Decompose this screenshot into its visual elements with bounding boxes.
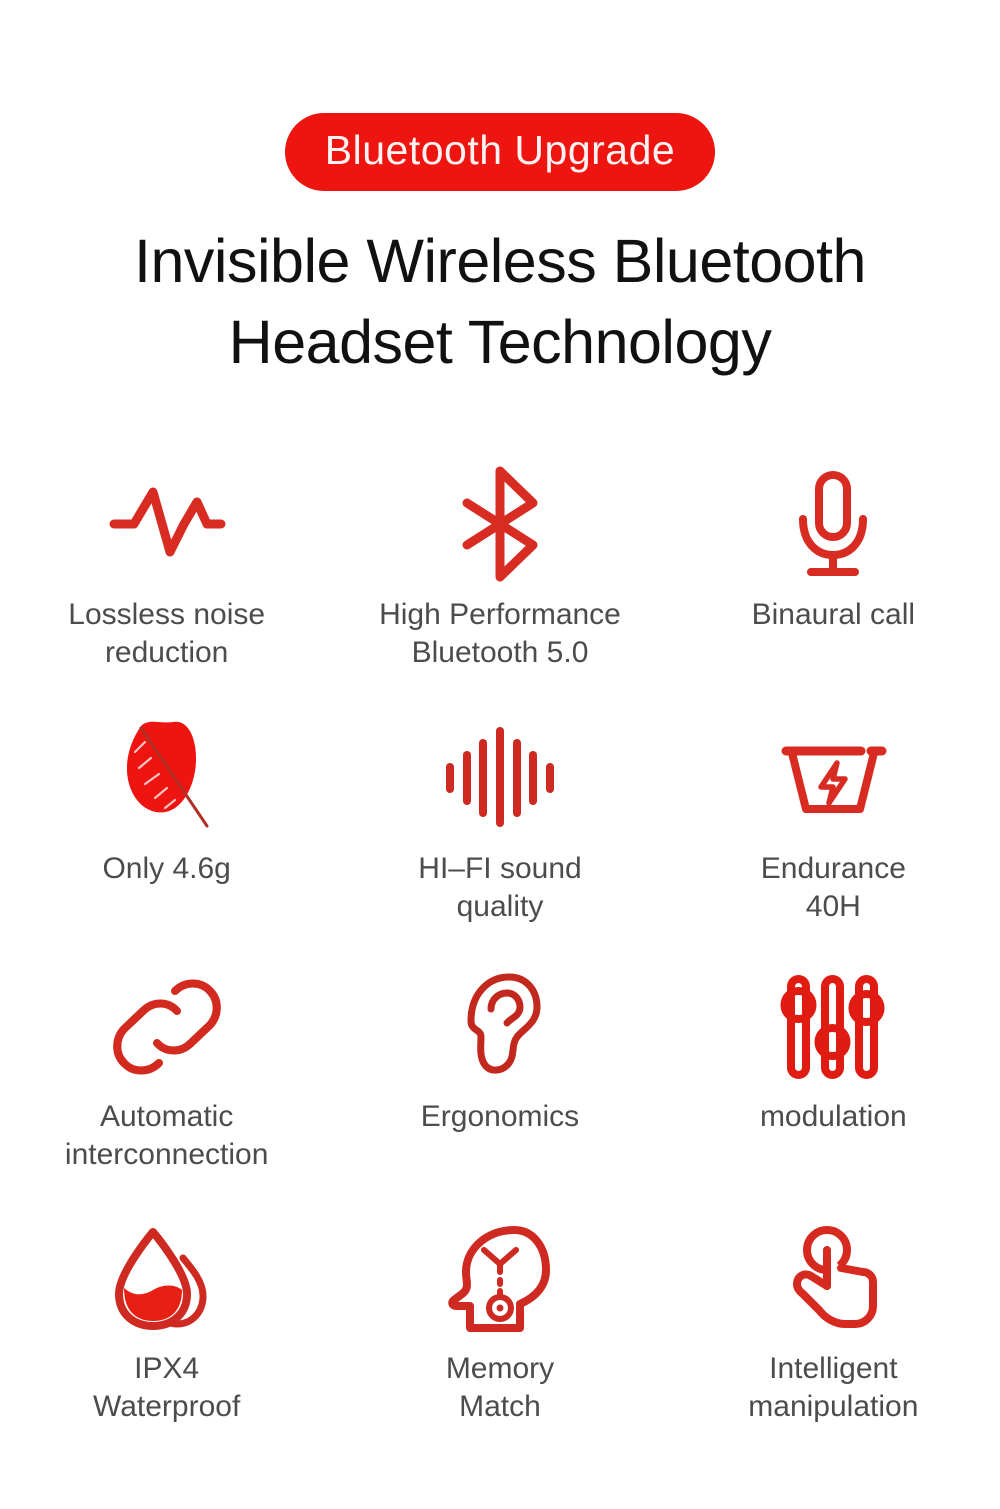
feature-grid: Lossless noise reduction High Performanc… bbox=[0, 460, 1000, 1468]
feature-item-automatic-interconnection: Automatic interconnection bbox=[0, 964, 333, 1216]
bluetooth-icon bbox=[455, 460, 545, 588]
feature-item-memory-match: Memory Match bbox=[333, 1216, 666, 1468]
feature-item-binaural-call: Binaural call bbox=[667, 460, 1000, 712]
microphone-icon bbox=[787, 460, 879, 588]
ear-icon bbox=[457, 964, 543, 1090]
water-drops-icon bbox=[111, 1216, 223, 1342]
feature-item-ergonomics: Ergonomics bbox=[333, 964, 666, 1216]
feature-label: Binaural call bbox=[752, 596, 915, 634]
feature-item-endurance-40h: Endurance 40H bbox=[667, 712, 1000, 964]
feature-label: Memory Match bbox=[446, 1350, 554, 1427]
feature-item-ipx4-waterproof: IPX4 Waterproof bbox=[0, 1216, 333, 1468]
bluetooth-upgrade-badge: Bluetooth Upgrade bbox=[285, 113, 715, 191]
feature-item-hifi-sound-quality: HI–FI sound quality bbox=[333, 712, 666, 964]
feature-label: HI–FI sound quality bbox=[418, 850, 581, 927]
feature-item-lossless-noise-reduction: Lossless noise reduction bbox=[0, 460, 333, 712]
feature-label: High Performance Bluetooth 5.0 bbox=[379, 596, 621, 673]
feature-label: Intelligent manipulation bbox=[748, 1350, 918, 1427]
feature-item-high-performance-bluetooth: High Performance Bluetooth 5.0 bbox=[333, 460, 666, 712]
feature-item-only-4-6g: Only 4.6g bbox=[0, 712, 333, 964]
feature-label: Endurance 40H bbox=[761, 850, 906, 927]
feature-label: Ergonomics bbox=[421, 1098, 579, 1136]
badge-container: Bluetooth Upgrade bbox=[0, 113, 1000, 191]
page-title-line-2: Headset Technology bbox=[20, 302, 980, 383]
feature-label: modulation bbox=[760, 1098, 907, 1136]
feature-label: Automatic interconnection bbox=[65, 1098, 268, 1175]
page-title-line-1: Invisible Wireless Bluetooth bbox=[20, 221, 980, 302]
infographic-page: Bluetooth Upgrade Invisible Wireless Blu… bbox=[0, 0, 1000, 1509]
sound-bars-icon bbox=[441, 712, 559, 842]
touch-hand-icon bbox=[783, 1216, 883, 1342]
chain-link-icon bbox=[113, 964, 221, 1090]
sliders-icon bbox=[778, 964, 888, 1090]
waveform-icon bbox=[108, 460, 226, 588]
page-title: Invisible Wireless Bluetooth Headset Tec… bbox=[20, 221, 980, 382]
battery-charge-icon bbox=[775, 712, 891, 842]
feature-label: Lossless noise reduction bbox=[68, 596, 265, 673]
feather-icon bbox=[115, 712, 219, 842]
feature-item-intelligent-manipulation: Intelligent manipulation bbox=[667, 1216, 1000, 1468]
feature-item-modulation: modulation bbox=[667, 964, 1000, 1216]
feature-label: IPX4 Waterproof bbox=[93, 1350, 240, 1427]
feature-label: Only 4.6g bbox=[102, 850, 230, 888]
head-memory-icon bbox=[448, 1216, 552, 1342]
